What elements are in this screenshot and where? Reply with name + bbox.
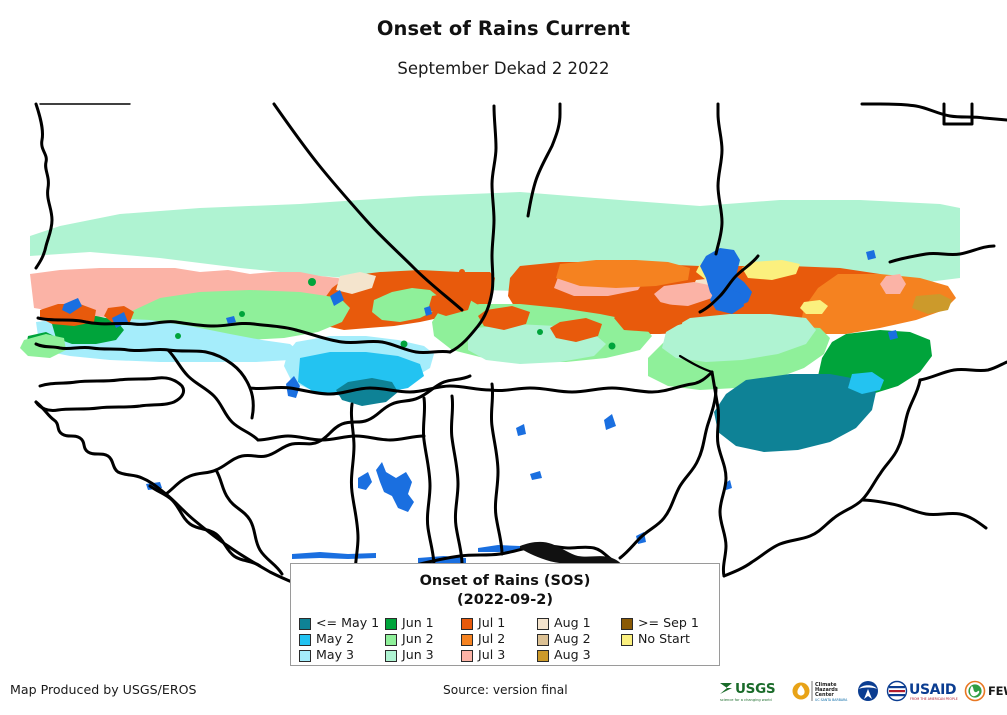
legend-item-label: Jul 2 <box>478 633 505 646</box>
legend-swatch-icon <box>461 650 473 662</box>
usgs-logo: USGS science for a changing world <box>718 678 788 704</box>
legend-item-label: Aug 1 <box>554 617 591 630</box>
legend-item[interactable]: Jul 2 <box>461 632 537 647</box>
border-car-north <box>920 362 1007 380</box>
legend-item[interactable]: Jun 1 <box>385 616 461 631</box>
svg-text:USAID: USAID <box>909 682 956 698</box>
legend-item-label: Jun 2 <box>402 633 434 646</box>
legend-columns: <= May 1 May 2 May 3 Jun 1 Ju <box>291 616 719 663</box>
border-benin-nigeria <box>491 384 502 554</box>
river-segment-c <box>604 414 616 430</box>
title-block: Onset of Rains Current September Dekad 2… <box>0 18 1007 79</box>
legend-item[interactable]: No Start <box>621 632 713 647</box>
legend-item-label: Jun 3 <box>402 649 434 662</box>
legend-swatch-icon <box>461 618 473 630</box>
legend-swatch-icon <box>385 634 397 646</box>
border-cote-divoire-ghana <box>351 404 358 578</box>
legend-title: Onset of Rains (SOS) <box>291 572 719 591</box>
river-segment-d <box>516 424 526 436</box>
lake-volta <box>376 462 414 512</box>
map-legend: Onset of Rains (SOS) (2022-09-2) <= May … <box>290 563 720 666</box>
legend-item[interactable]: Aug 2 <box>537 632 621 647</box>
legend-swatch-icon <box>385 650 397 662</box>
legend-subtitle: (2022-09-2) <box>291 591 719 610</box>
sos-pixel <box>239 311 245 317</box>
legend-item[interactable]: May 3 <box>299 648 385 663</box>
map-page: Onset of Rains Current September Dekad 2… <box>0 0 1007 715</box>
chc-logo-mark: Climate Hazards Center UC SANTA BARBARA <box>792 678 850 704</box>
sos-pixel <box>371 293 377 299</box>
border-east-vertical <box>944 104 972 124</box>
legend-swatch-icon <box>621 634 633 646</box>
sos-pixel <box>308 278 316 286</box>
coast-lagoon-a <box>292 552 376 559</box>
legend-item-label: Aug 2 <box>554 633 591 646</box>
legend-item[interactable]: Aug 1 <box>537 616 621 631</box>
border-cameroon-west <box>620 388 716 558</box>
border-chad-cameroon <box>724 500 862 576</box>
legend-item-label: <= May 1 <box>316 617 379 630</box>
legend-item[interactable]: May 2 <box>299 632 385 647</box>
border-togo-benin <box>451 396 462 564</box>
border-ghana-togo <box>423 398 434 566</box>
footer-logo-strip: USGS science for a changing world Climat… <box>718 676 1003 706</box>
legend-item-label: Jul 3 <box>478 649 505 662</box>
legend-swatch-icon <box>537 634 549 646</box>
legend-column-2: Jun 1 Jun 2 Jun 3 <box>385 616 461 663</box>
lake-volta-arm <box>358 472 372 490</box>
sos-pixel <box>175 333 181 339</box>
border-gambia <box>36 378 184 411</box>
legend-swatch-icon <box>537 618 549 630</box>
sos-pixel <box>459 269 465 275</box>
svg-text:science for a changing world: science for a changing world <box>720 698 772 702</box>
page-subtitle: September Dekad 2 2022 <box>0 60 1007 78</box>
fewsnet-logo-mark: FEWS NET <box>964 678 1007 704</box>
usaid-logo-mark: USAID FROM THE AMERICAN PEOPLE <box>886 678 960 704</box>
legend-swatch-icon <box>537 650 549 662</box>
legend-column-4: Aug 1 Aug 2 Aug 3 <box>537 616 621 663</box>
legend-swatch-icon <box>461 634 473 646</box>
legend-item[interactable]: <= May 1 <box>299 616 385 631</box>
svg-text:USGS: USGS <box>735 681 775 697</box>
legend-item-label: >= Sep 1 <box>638 617 699 630</box>
svg-text:FROM THE AMERICAN PEOPLE: FROM THE AMERICAN PEOPLE <box>910 697 958 701</box>
legend-item[interactable]: Jul 3 <box>461 648 537 663</box>
legend-item[interactable]: Jul 1 <box>461 616 537 631</box>
coast-guinea-bissau <box>36 402 166 494</box>
noaa-logo-mark <box>854 678 882 704</box>
sos-pixel <box>537 329 543 335</box>
sos-pixel <box>609 343 616 350</box>
legend-swatch-icon <box>299 618 311 630</box>
border-sierra-leone <box>150 486 260 566</box>
footer-source: Source: version final <box>443 683 568 697</box>
legend-item-label: No Start <box>638 633 690 646</box>
legend-item-label: Jul 1 <box>478 617 505 630</box>
noaa-logo <box>854 678 882 704</box>
legend-item[interactable]: Jun 2 <box>385 632 461 647</box>
footer-produced-by: Map Produced by USGS/EROS <box>10 682 196 697</box>
legend-swatch-icon <box>385 618 397 630</box>
usaid-logo: USAID FROM THE AMERICAN PEOPLE <box>886 678 960 704</box>
page-title: Onset of Rains Current <box>0 18 1007 39</box>
sos-pixel <box>825 357 831 363</box>
legend-column-1: <= May 1 May 2 May 3 <box>299 616 385 663</box>
legend-item-label: May 3 <box>316 649 354 662</box>
legend-item-label: May 2 <box>316 633 354 646</box>
legend-column-3: Jul 1 Jul 2 Jul 3 <box>461 616 537 663</box>
legend-item-label: Jun 1 <box>402 617 434 630</box>
border-burkina-ghana <box>258 436 424 440</box>
svg-text:FEWS NET: FEWS NET <box>988 684 1007 698</box>
legend-swatch-icon <box>299 634 311 646</box>
legend-item-label: Aug 3 <box>554 649 591 662</box>
legend-item[interactable]: >= Sep 1 <box>621 616 713 631</box>
legend-swatch-icon <box>621 618 633 630</box>
border-car-east <box>862 500 986 528</box>
svg-text:UC SANTA BARBARA: UC SANTA BARBARA <box>815 698 848 702</box>
usgs-logo-mark: USGS science for a changing world <box>718 678 788 704</box>
legend-item[interactable]: Jun 3 <box>385 648 461 663</box>
border-libya-chad <box>862 104 1007 120</box>
legend-column-5: >= Sep 1 No Start <box>621 616 713 663</box>
coast-lagoon-e <box>530 471 542 480</box>
legend-swatch-icon <box>299 650 311 662</box>
legend-item[interactable]: Aug 3 <box>537 648 621 663</box>
fewsnet-logo: FEWS NET <box>964 678 1007 704</box>
chc-logo: Climate Hazards Center UC SANTA BARBARA <box>792 678 850 704</box>
